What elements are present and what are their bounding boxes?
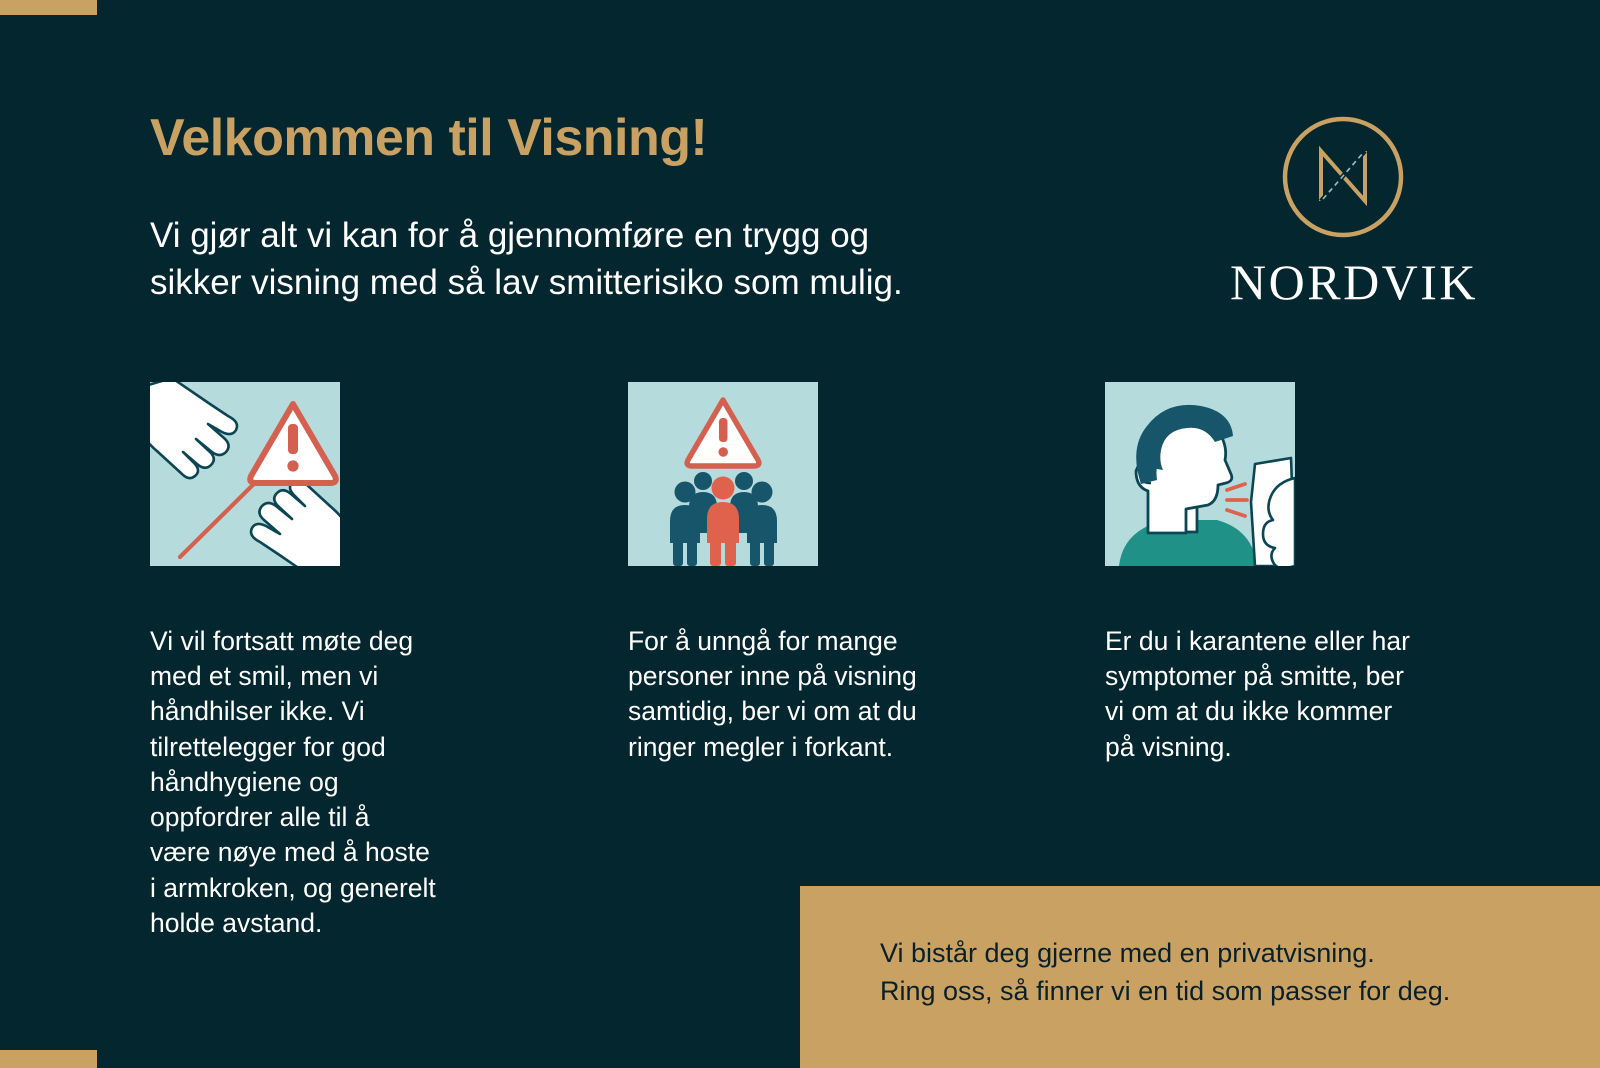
info-column: For å unngå for mange personer inne på v… [628,382,1008,765]
page-subtitle: Vi gjør alt vi kan for å gjennomføre en … [150,213,1050,306]
page-title: Velkommen til Visning! [150,110,707,167]
nordvik-monogram-icon [1281,115,1405,239]
info-column: Vi vil fortsatt møte deg med et smil, me… [150,382,530,941]
no-handshake-icon [150,382,340,566]
page-subtitle-line-2: sikker visning med så lav smitterisiko s… [150,260,1050,307]
brand-wordmark: NORDVIK [1230,257,1455,307]
info-column-text: Er du i karantene eller har symptomer på… [1105,624,1485,765]
brand-logo: NORDVIK [1230,115,1455,307]
info-column: Er du i karantene eller har symptomer på… [1105,382,1485,765]
info-column-text: For å unngå for mange personer inne på v… [628,624,1008,765]
private-viewing-banner-text: Vi bistår deg gjerne med en privatvisnin… [880,934,1450,1011]
private-viewing-banner: Vi bistår deg gjerne med en privatvisnin… [800,886,1600,1068]
crowd-warning-icon [628,382,818,566]
page-subtitle-line-1: Vi gjør alt vi kan for å gjennomføre en … [150,213,1050,260]
gold-accent-top-left [0,0,97,15]
cough-into-tissue-icon [1105,382,1295,566]
info-column-text: Vi vil fortsatt møte deg med et smil, me… [150,624,530,941]
gold-accent-bottom-left [0,1050,97,1068]
poster-canvas: Velkommen til Visning! Vi gjør alt vi ka… [0,0,1600,1068]
